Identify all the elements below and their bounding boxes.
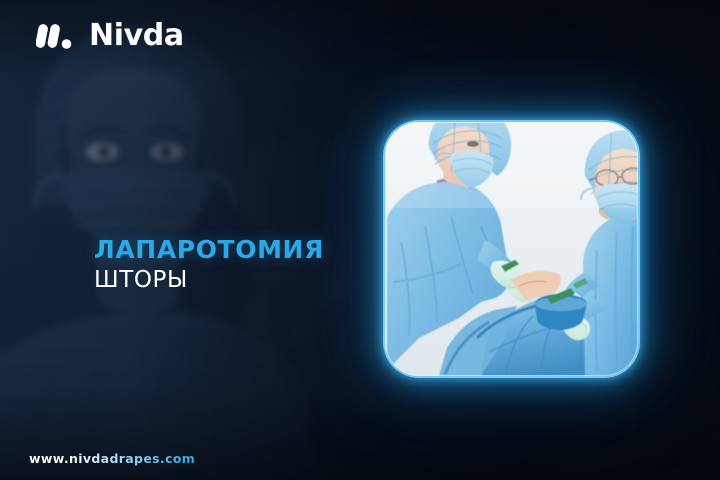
- headline-secondary: ШТОРЫ: [94, 267, 324, 295]
- headline-block: ЛАПАРОТОМИЯ ШТОРЫ: [94, 236, 324, 295]
- surgery-photo: [385, 122, 638, 376]
- surgery-photo-card: [385, 122, 638, 376]
- nivda-logo-mark-icon: [36, 20, 78, 52]
- headline-primary: ЛАПАРОТОМИЯ: [94, 236, 324, 264]
- brand-name: Nivda: [89, 21, 184, 51]
- website-url[interactable]: www.nivdadrapes.com: [29, 451, 195, 466]
- promo-banner: Nivda ЛАПАРОТОМИЯ ШТОРЫ www.nivdadrapes.…: [0, 0, 720, 480]
- brand-logo[interactable]: Nivda: [36, 20, 184, 52]
